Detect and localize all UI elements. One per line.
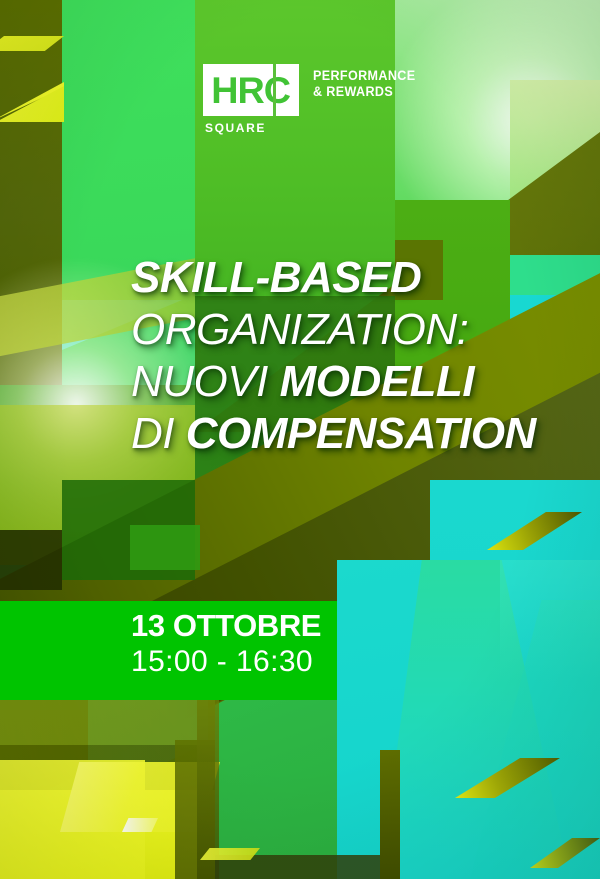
headline-line-1: SKILL-BASED <box>131 252 536 304</box>
event-date-text: 13 OTTOBRE 15:00 - 16:30 <box>131 608 321 680</box>
brand-tagline: PERFORMANCE & REWARDS <box>313 64 415 99</box>
headline-line-4: DI COMPENSATION <box>131 408 536 460</box>
hrc-logo-box: HRC <box>203 64 299 116</box>
headline-line-2: ORGANIZATION: <box>131 304 536 356</box>
brand-square-label: SQUARE <box>205 121 266 135</box>
event-time-value: 15:00 - 16:30 <box>131 644 321 680</box>
hrc-logo-divider <box>273 64 276 116</box>
brand-logo: HRC PERFORMANCE & REWARDS <box>203 64 423 116</box>
headline-line-4-light: DI <box>131 409 186 458</box>
poster-headline: SKILL-BASED ORGANIZATION: NUOVI MODELLI … <box>131 252 536 460</box>
hrc-logo-text: HRC <box>212 72 291 109</box>
headline-line-3-bold: MODELLI <box>280 357 474 406</box>
event-date-value: 13 OTTOBRE <box>131 608 321 644</box>
brand-tagline-line2: & REWARDS <box>313 84 415 100</box>
headline-line-4-bold: COMPENSATION <box>186 409 536 458</box>
brand-tagline-line1: PERFORMANCE <box>313 68 415 84</box>
headline-line-3: NUOVI MODELLI <box>131 356 536 408</box>
headline-line-3-light: NUOVI <box>131 357 280 406</box>
event-poster: HRC PERFORMANCE & REWARDS SQUARE SKILL-B… <box>0 0 600 879</box>
